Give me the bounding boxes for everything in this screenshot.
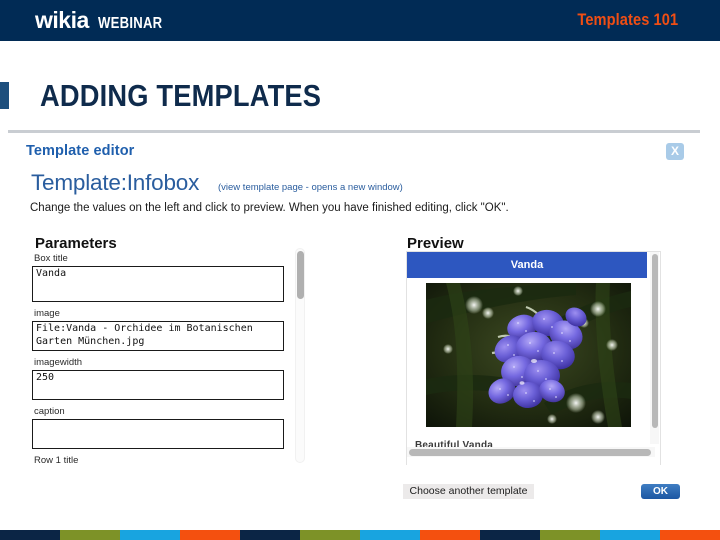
template-editor-screenshot: Template editor X Template:Infobox (view… [0,130,720,465]
ok-button[interactable]: OK [641,484,680,499]
choose-another-template-button[interactable]: Choose another template [403,484,534,499]
orchid-photo [426,283,631,427]
deck-title: Templates 101 [577,10,678,30]
parameters-heading: Parameters [35,235,117,252]
parameters-list: Box title Vanda image File:Vanda - Orchi… [32,253,285,465]
top-navigation-bar: wikia WEBINAR Templates 101 [0,0,720,41]
parameter-label: caption [34,406,285,418]
footer-stripe-7 [420,530,480,540]
parameter-label: imagewidth [34,357,285,369]
footer-stripe-2 [120,530,180,540]
preview-horizontal-scrollbar-thumb[interactable] [409,449,651,456]
divider-line [8,130,700,133]
footer-stripe-4 [240,530,300,540]
parameter-label: image [34,308,285,320]
footer-stripe-6 [360,530,420,540]
parameter-field-caption: caption [32,406,285,449]
preview-vertical-scrollbar-thumb[interactable] [652,254,658,428]
close-icon[interactable]: X [666,143,684,160]
preview-horizontal-scrollbar[interactable] [407,447,655,457]
parameters-scrollbar-thumb[interactable] [297,251,304,299]
editor-instructions: Change the values on the left and click … [30,202,509,214]
brand-lockup: wikia WEBINAR [35,8,176,33]
webinar-label: WEBINAR [98,15,162,33]
wikia-logo: wikia [35,8,89,32]
preview-heading: Preview [407,235,464,252]
template-name-heading: Template:Infobox [31,170,199,196]
footer-stripe-8 [480,530,540,540]
footer-stripe-10 [600,530,660,540]
slide-root: wikia WEBINAR Templates 101 ADDING TEMPL… [0,0,720,540]
footer-stripe-9 [540,530,600,540]
heading-accent-bar [0,82,9,109]
parameter-field-box-title: Box title Vanda [32,253,285,302]
footer-stripe-0 [0,530,60,540]
parameter-field-imagewidth: imagewidth 250 [32,357,285,400]
preview-pane: Vanda [407,252,660,465]
parameter-label: Box title [34,253,285,265]
infobox-title-bar: Vanda [407,252,647,278]
parameters-scrollbar[interactable] [295,248,305,463]
infobox-caption [426,428,631,438]
caption-input[interactable] [32,419,284,449]
box-title-input[interactable]: Vanda [32,266,284,302]
footer-stripe-3 [180,530,240,540]
parameter-label: Row 1 title [34,455,285,465]
footer-stripe-bar [0,530,720,540]
footer-stripe-1 [60,530,120,540]
view-template-page-link[interactable]: (view template page - opens a new window… [218,182,403,193]
parameter-field-row-1-title: Row 1 title Beautiful Vanda Orchid [32,455,285,465]
parameter-field-image: image File:Vanda - Orchidee im Botanisch… [32,308,285,351]
image-input[interactable]: File:Vanda - Orchidee im Botanischen Gar… [32,321,284,351]
imagewidth-input[interactable]: 250 [32,370,284,400]
footer-stripe-5 [300,530,360,540]
editor-window-title: Template editor [26,143,134,159]
page-title: ADDING TEMPLATES [40,78,321,114]
footer-stripe-11 [660,530,720,540]
preview-vertical-scrollbar[interactable] [650,252,659,444]
